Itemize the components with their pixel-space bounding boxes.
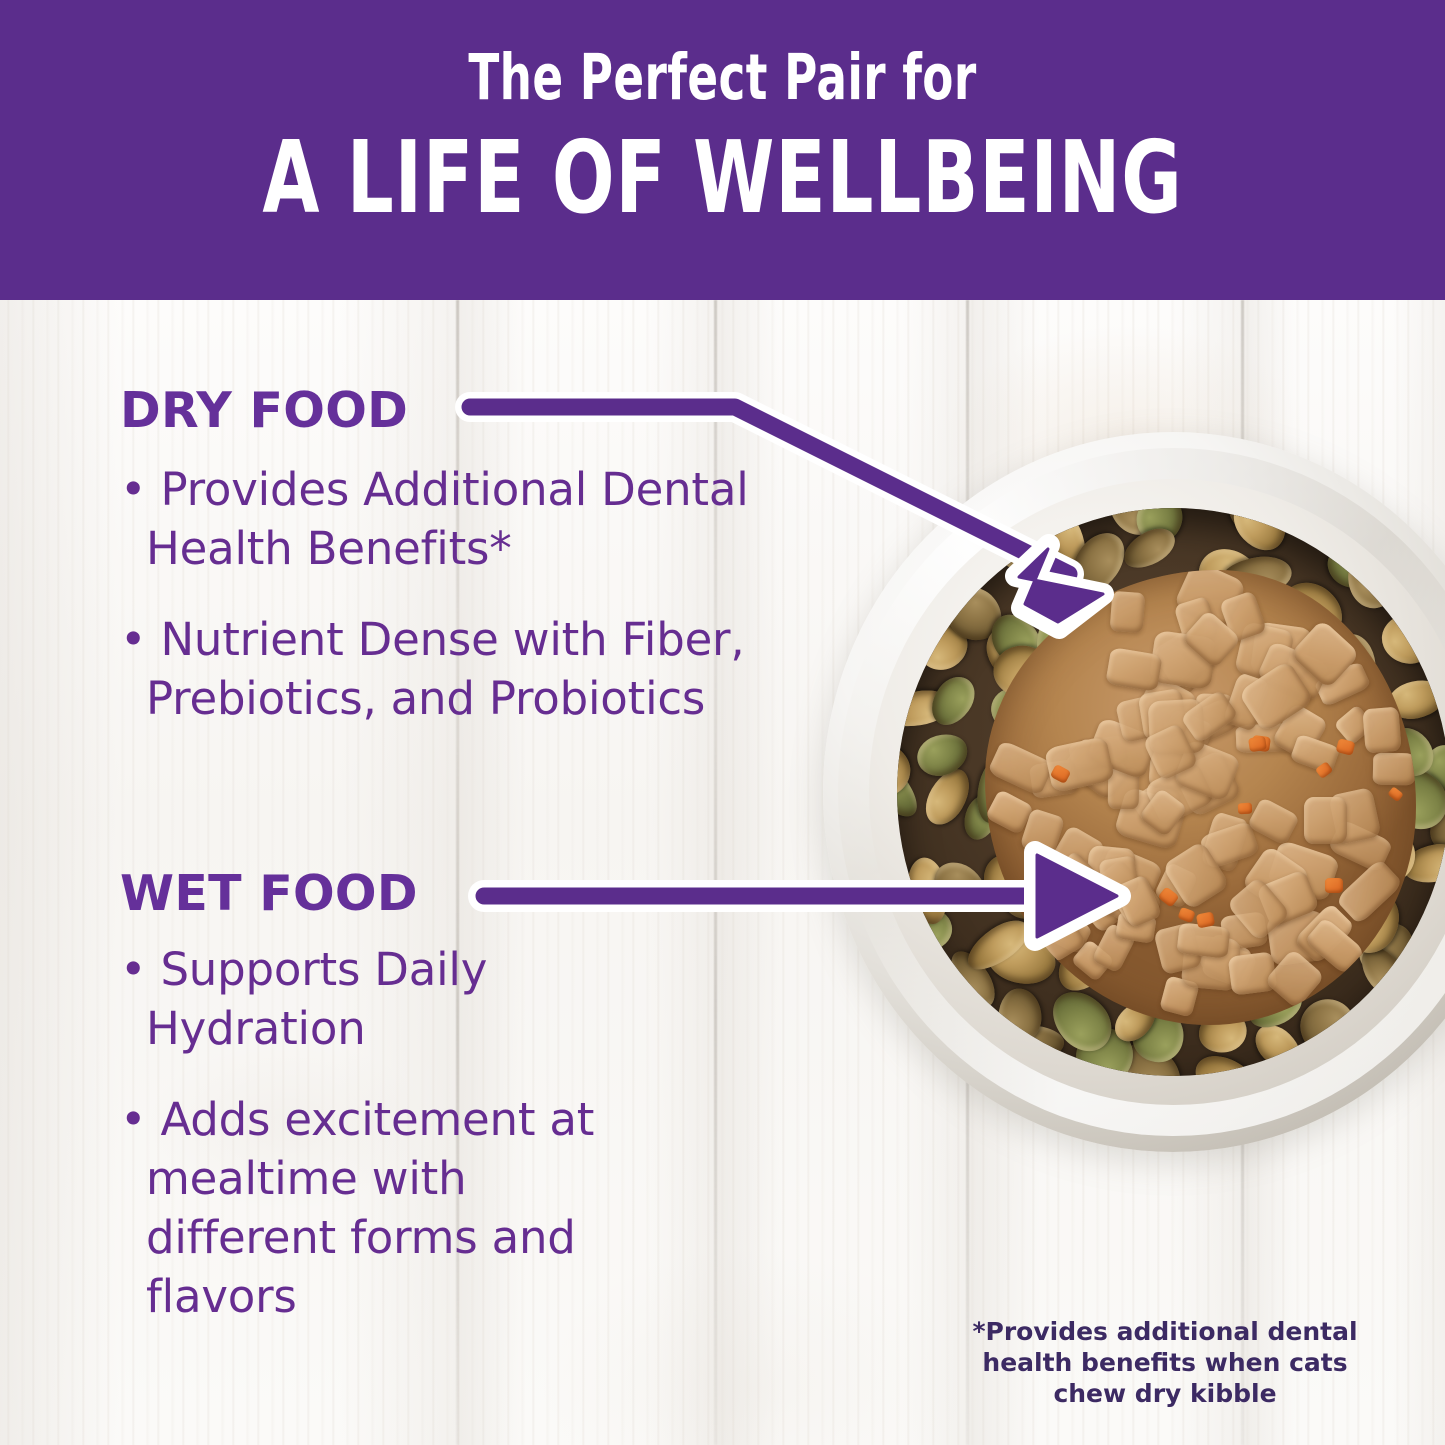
wet-food-chunk [1110,591,1146,633]
list-item: • Nutrient Dense with Fiber, Prebiotics,… [120,610,760,728]
header-banner: The Perfect Pair for A LIFE OF WELLBEING [0,0,1445,300]
header-subtitle: The Perfect Pair for [145,44,1301,112]
carrot-piece [1387,787,1403,803]
wet-food-bullet-list: • Supports Daily Hydration • Adds excite… [120,940,640,1326]
page-title: A LIFE OF WELLBEING [130,126,1315,230]
footnote-text: *Provides additional dental health benef… [950,1316,1380,1409]
carrot-piece [1325,878,1343,893]
bowl-interior [897,508,1445,1077]
list-item: • Provides Additional Dental Health Bene… [120,460,760,578]
wet-food-chunk [1177,922,1231,959]
carrot-piece [1196,911,1215,928]
list-item: • Supports Daily Hydration [120,940,640,1058]
list-item: • Adds excitement at mealtime with diffe… [120,1090,640,1326]
wet-food-chunk [1362,707,1402,754]
carrot-piece [1336,739,1356,757]
benefits-copy-column: DRY FOOD • Provides Additional Dental He… [0,300,840,1445]
section-heading-wet-food: WET FOOD [120,868,418,920]
carrot-piece [1238,803,1252,815]
wet-food-chunk [1304,797,1347,844]
kibble-piece [922,669,983,733]
pet-food-bowl-photo [823,432,1445,1152]
carrot-piece [1178,906,1197,923]
wet-food-chunk [1373,753,1415,786]
dry-food-bullet-list: • Provides Additional Dental Health Bene… [120,460,760,728]
product-benefit-infographic: The Perfect Pair for A LIFE OF WELLBEING… [0,0,1445,1445]
carrot-piece [1248,736,1267,752]
section-heading-dry-food: DRY FOOD [120,385,408,437]
